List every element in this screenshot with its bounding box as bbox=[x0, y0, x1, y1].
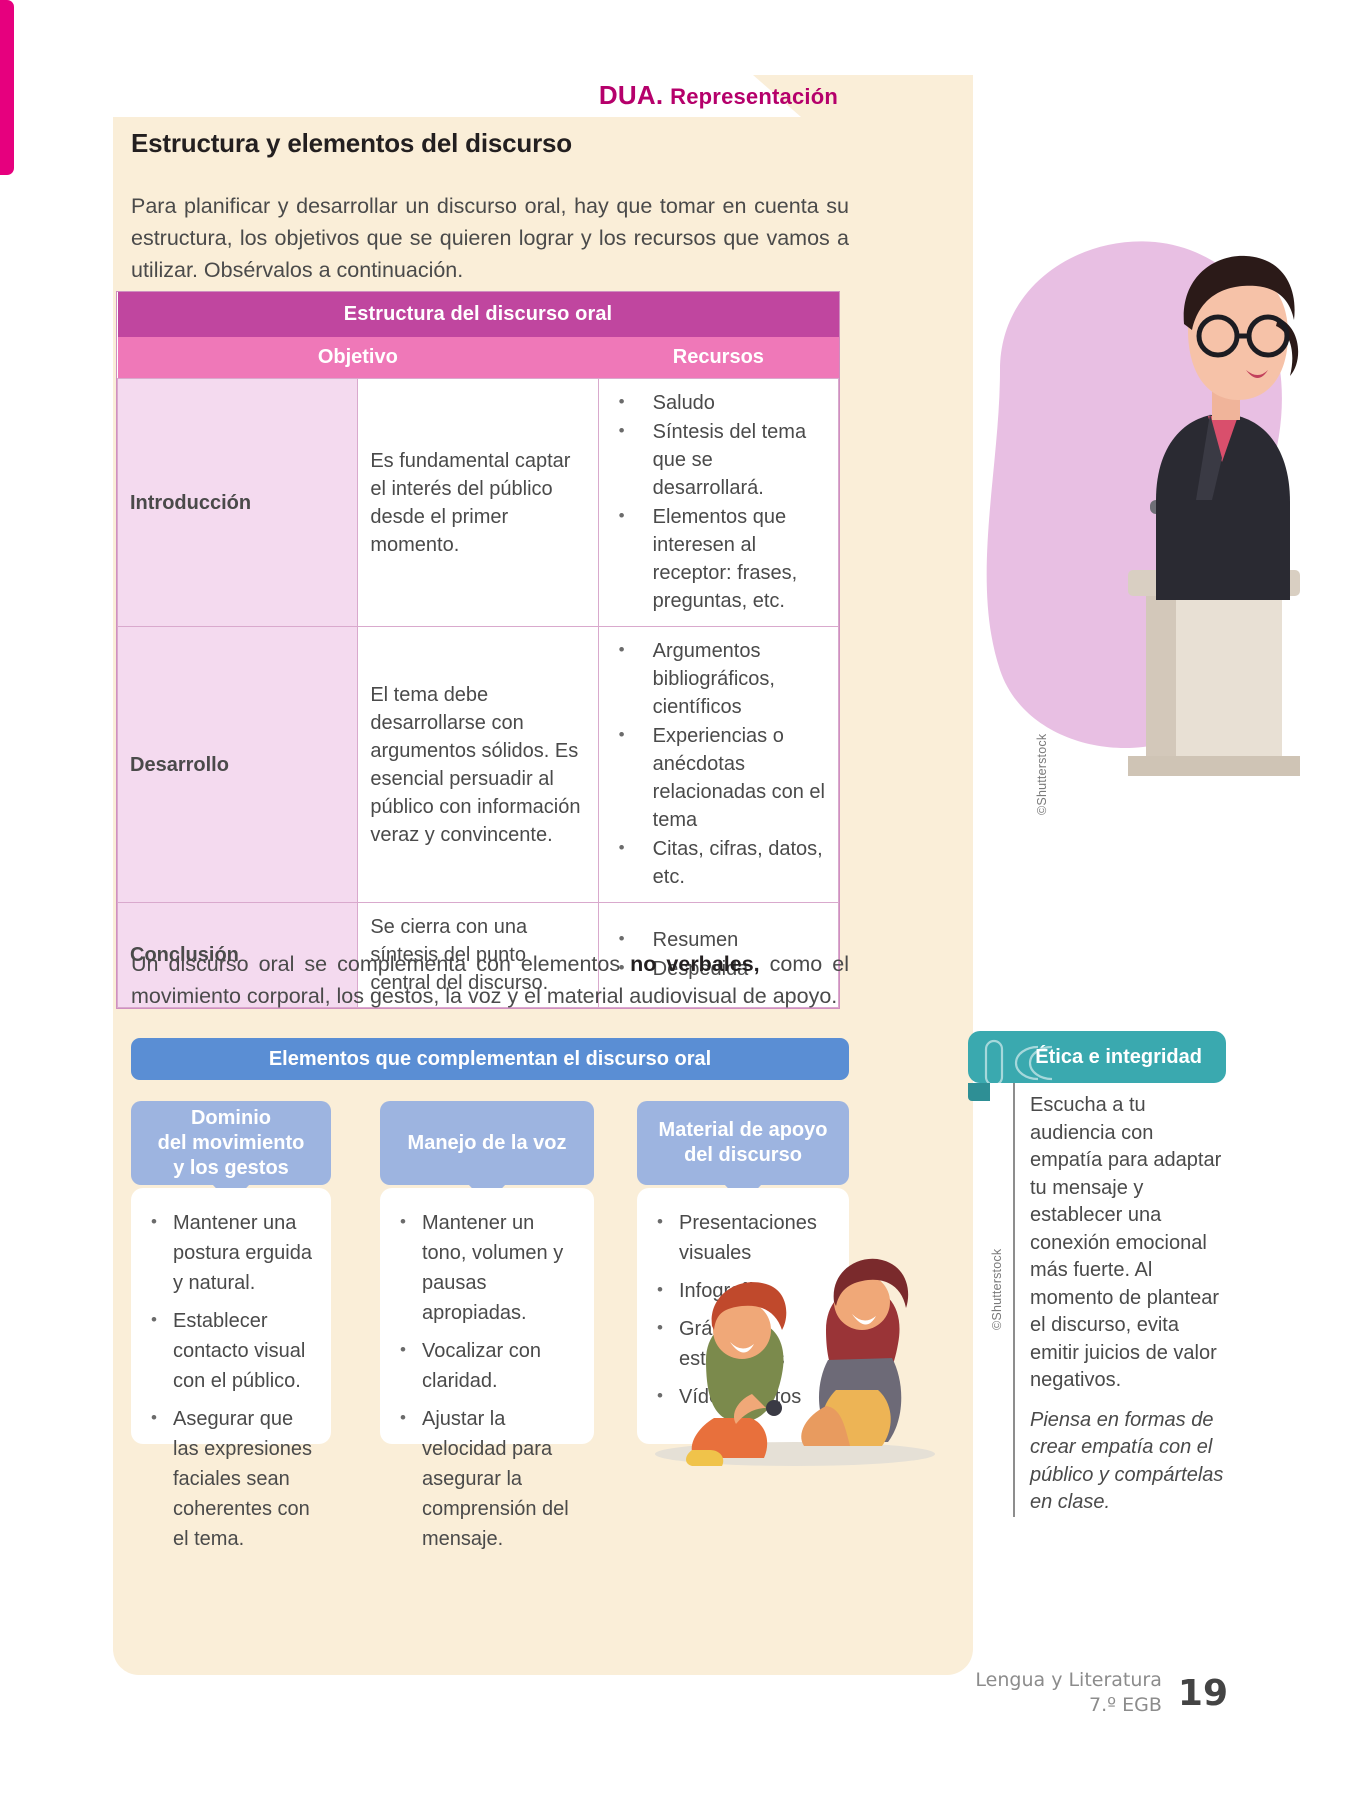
page-number: 19 bbox=[1178, 1673, 1228, 1714]
list-item: Elementos que interesen al receptor: fra… bbox=[611, 503, 826, 615]
table-header-recursos: Recursos bbox=[598, 337, 838, 379]
row-recursos-list: Saludo Síntesis del tema que se desarrol… bbox=[598, 379, 838, 627]
list-item: Ajustar la velocidad para asegurar la co… bbox=[390, 1404, 580, 1554]
list-item: Mantener una postura erguida y natural. bbox=[141, 1208, 317, 1298]
intro-paragraph: Para planificar y desarrollar un discurs… bbox=[131, 190, 849, 286]
bubble-label: Dominio del movimiento y los gestos bbox=[158, 1106, 305, 1181]
nonverbal-paragraph: Un discurso oral se complementa con elem… bbox=[131, 948, 849, 1012]
diagram-box-voz: Mantener un tono, volumen y pausas aprop… bbox=[380, 1188, 594, 1444]
bubble-label: Material de apoyo del discurso bbox=[659, 1118, 828, 1168]
etica-divider bbox=[1013, 1083, 1015, 1517]
speaker-illustration bbox=[960, 200, 1300, 780]
row-objetivo-text: El tema debe desarrollarse con argumento… bbox=[358, 627, 598, 903]
diagram-banner: Elementos que complementan el discurso o… bbox=[131, 1038, 849, 1080]
footer-book-line1: Lengua y Literatura bbox=[975, 1668, 1161, 1693]
par2-bold: no verbales, bbox=[630, 952, 760, 976]
diagram-bubble-voz: Manejo de la voz bbox=[380, 1101, 594, 1185]
credit-bottom: ©Shutterstock bbox=[990, 1249, 1004, 1330]
list-item: Vocalizar con claridad. bbox=[390, 1336, 580, 1396]
etica-body: Escucha a tu audiencia con empatía para … bbox=[1030, 1092, 1226, 1517]
footer-book-title: Lengua y Literatura 7.º EGB bbox=[975, 1668, 1161, 1718]
footer-book-line2: 7.º EGB bbox=[975, 1693, 1161, 1718]
etica-badge-tail bbox=[968, 1083, 990, 1101]
row-stage-label: Introducción bbox=[118, 379, 358, 627]
list-item: Experiencias o anécdotas relacionadas co… bbox=[611, 722, 826, 834]
list-item: Citas, cifras, datos, etc. bbox=[611, 835, 826, 891]
list-item: Saludo bbox=[611, 389, 826, 417]
table-title: Estructura del discurso oral bbox=[118, 292, 839, 337]
page-footer: Lengua y Literatura 7.º EGB 19 bbox=[975, 1668, 1228, 1718]
list-item: Asegurar que las expresiones faciales se… bbox=[141, 1404, 317, 1554]
row-objetivo-text: Es fundamental captar el interés del púb… bbox=[358, 379, 598, 627]
dua-prefix: DUA. bbox=[599, 80, 663, 110]
diagram-bubble-material: Material de apoyo del discurso bbox=[637, 1101, 849, 1185]
page-edge-tab bbox=[0, 0, 14, 175]
table-row: Desarrollo El tema debe desarrollarse co… bbox=[118, 627, 839, 903]
table-row: Introducción Es fundamental captar el in… bbox=[118, 379, 839, 627]
credit-top: ©Shutterstock bbox=[1035, 734, 1049, 815]
diagram-bubble-dominio: Dominio del movimiento y los gestos bbox=[131, 1101, 331, 1185]
ic-logo-icon bbox=[980, 1035, 1080, 1083]
list-item: Argumentos bibliográficos, científicos bbox=[611, 637, 826, 721]
table-header-objetivo: Objetivo bbox=[118, 337, 599, 379]
etica-body-text: Escucha a tu audiencia con empatía para … bbox=[1030, 1094, 1221, 1391]
list-item: Mantener un tono, volumen y pausas aprop… bbox=[390, 1208, 580, 1328]
diagram-box-dominio: Mantener una postura erguida y natural. … bbox=[131, 1188, 331, 1444]
dua-representation-text: Representación bbox=[670, 84, 838, 109]
bubble-label: Manejo de la voz bbox=[408, 1131, 567, 1156]
etica-italic-text: Piensa en formas de crear empatía con el… bbox=[1030, 1407, 1226, 1517]
students-illustration bbox=[630, 1210, 960, 1470]
etica-badge: Ética e integridad bbox=[968, 1031, 1226, 1083]
par2-part1: Un discurso oral se complementa con elem… bbox=[131, 952, 630, 976]
list-item: Síntesis del tema que se desarrollará. bbox=[611, 418, 826, 502]
list-item: Establecer contacto visual con el públic… bbox=[141, 1306, 317, 1396]
row-recursos-list: Argumentos bibliográficos, científicos E… bbox=[598, 627, 838, 903]
row-stage-label: Desarrollo bbox=[118, 627, 358, 903]
page-title: Estructura y elementos del discurso bbox=[131, 128, 572, 159]
discourse-structure-table: Estructura del discurso oral Objetivo Re… bbox=[116, 291, 840, 1009]
dua-label: DUA. Representación bbox=[599, 80, 838, 111]
